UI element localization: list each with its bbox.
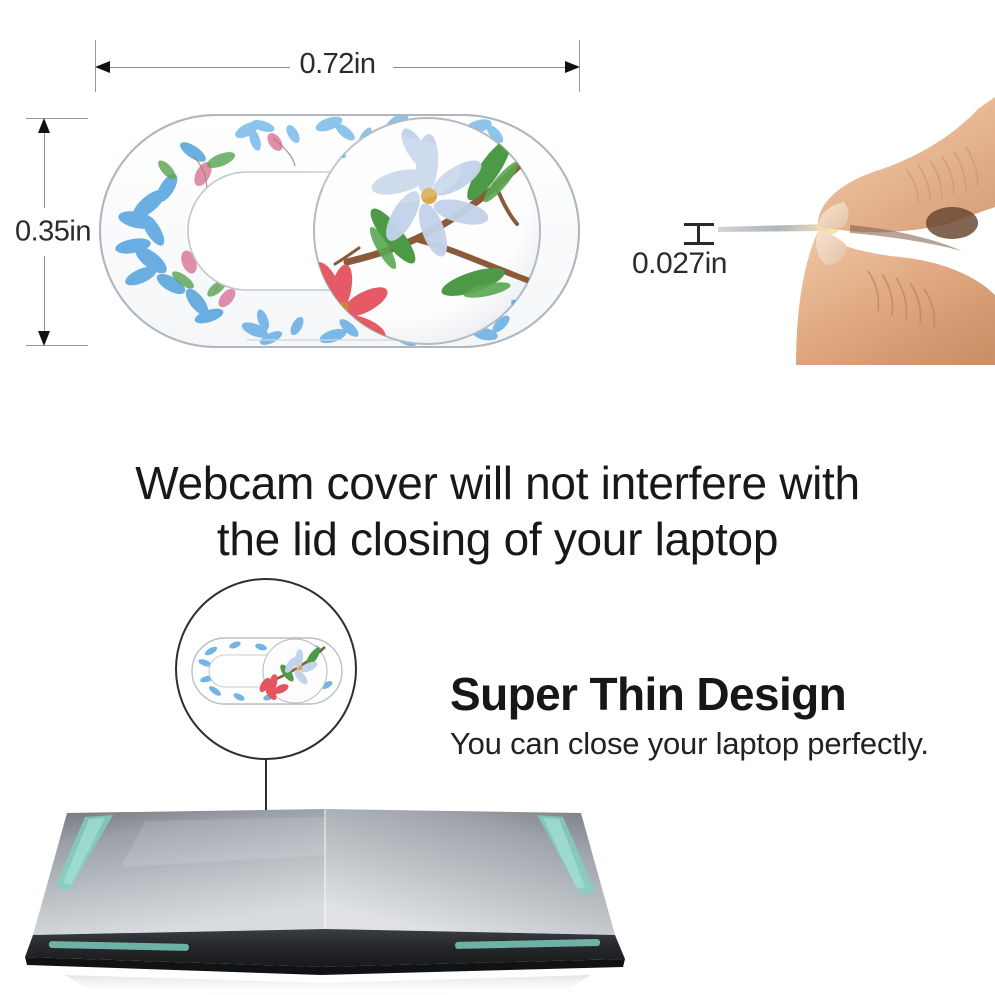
dimension-line-right [393, 67, 568, 68]
callout [175, 578, 360, 803]
height-label: 0.35in [15, 212, 91, 253]
product-infographic: 0.72in 0.35in 0.027in [0, 0, 995, 995]
feature-subtitle: You can close your laptop perfectly. [450, 726, 990, 762]
width-dimension: 0.72in [95, 40, 580, 100]
dimension-line-left [107, 67, 302, 68]
callout-cover-mini [191, 637, 343, 705]
laptop-illustration [25, 795, 645, 995]
headline: Webcam cover will not interfere with the… [0, 455, 995, 567]
headline-line-2: the lid closing of your laptop [0, 511, 995, 567]
hand-holding-cover-photo [700, 75, 995, 365]
dimension-line-upper [44, 130, 45, 208]
arrow-down-icon [38, 331, 50, 346]
arrow-up-icon [38, 118, 50, 133]
height-dimension: 0.35in [8, 118, 98, 346]
headline-line-1: Webcam cover will not interfere with [0, 455, 995, 511]
feature-title: Super Thin Design [450, 668, 990, 720]
extension-line-bottom [26, 345, 88, 346]
dimension-line-lower [44, 256, 45, 334]
feature-text-block: Super Thin Design You can close your lap… [450, 668, 990, 762]
callout-circle [175, 578, 357, 760]
arrow-left-icon [95, 61, 110, 73]
arrow-right-icon [565, 61, 580, 73]
dimensions-section: 0.72in 0.35in 0.027in [0, 0, 995, 420]
extension-line-top [26, 118, 88, 119]
width-label: 0.72in [289, 48, 385, 81]
webcam-cover-illustration [97, 112, 582, 350]
